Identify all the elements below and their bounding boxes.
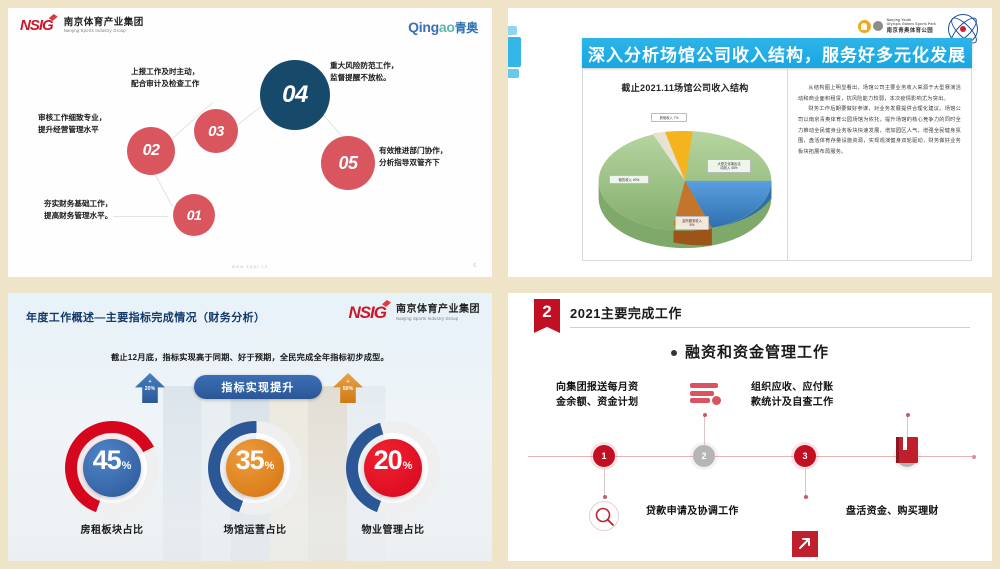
book-icon: [896, 437, 918, 463]
connector-01-label: [113, 216, 168, 217]
qingao-logo-part2: ao: [439, 19, 455, 35]
qingao-logo: Qingao青奥: [408, 19, 478, 36]
qingao-logo-part3: 青奥: [455, 21, 478, 35]
slide4-title: 2021主要完成工作: [570, 303, 682, 322]
arrow-right-value: + 50%: [333, 379, 363, 392]
kpi-pill: 指标实现提升: [194, 375, 322, 399]
pie-chart-panel: 截止2021.11场馆公司收入结构: [583, 69, 788, 260]
nsig-mark-icon: NSIG: [348, 303, 386, 323]
timeline-node-2[interactable]: 2: [693, 445, 715, 467]
donut-chart-1: 35% 场馆运营占比: [208, 421, 302, 515]
park-logo: Nanjing Youth Olympic Games Sports Park …: [858, 18, 936, 34]
node-03-text: 上报工作及时主动， 配合审计及检查工作: [131, 66, 199, 90]
pie-slice-label-3: 其他收入 7%: [651, 113, 687, 122]
timeline-stem-3: [805, 469, 806, 497]
node-01-text: 夯实财务基础工作， 提高财务管理水平。: [44, 198, 112, 222]
node-04[interactable]: 04: [260, 60, 330, 130]
arrow-up-right: + 50%: [333, 373, 363, 403]
donut-core-1: 35%: [226, 439, 284, 497]
pie-chart: 大型文化演出活 动收入 45% 租赁收入 40% 会所服务收入 8% 其他收入 …: [589, 103, 781, 253]
donut-unit-2: %: [403, 460, 413, 472]
decor-tabs: [508, 26, 522, 80]
nsig-logo-en: Nanjing Sports Industry Group: [396, 316, 480, 321]
nsig-mark-icon: NSIG: [20, 17, 53, 34]
slide-timeline: 2 2021主要完成工作 融资和资金管理工作 1 向集团报送每月资 金余额、资金…: [508, 293, 992, 561]
bullet-dot-icon: [671, 350, 677, 356]
node-05-text: 有效推进部门协作， 分析指导双管齐下: [379, 145, 447, 169]
analysis-paragraph-2: 财务工作后期要做好参谋，对业务发展提供合理化建议。场馆公司以南京青奥体育公园场馆…: [798, 104, 961, 157]
node-01-number: 01: [187, 207, 202, 223]
slide1-page-number: 6: [473, 263, 476, 269]
timeline-stem-1: [604, 469, 605, 497]
slide3-heading: 年度工作概述—主要指标完成情况（财务分析）: [26, 309, 265, 325]
donut-caption-2: 物业管理占比: [324, 521, 462, 536]
timeline-node-1-number: 1: [601, 451, 606, 461]
donut-chart-2: 20% 物业管理占比: [346, 421, 440, 515]
slide2-body: 截止2021.11场馆公司收入结构: [582, 68, 972, 261]
donut-value-2: 20: [374, 439, 402, 482]
nsig-logo-cn: 南京体育产业集团: [396, 305, 480, 316]
slide-five-node-diagram: NSIG 南京体育产业集团 Nanjing Sports Industry Gr…: [8, 8, 492, 277]
timeline-label-2: 贷款申请及协调工作: [646, 505, 739, 520]
park-logo-icon: [858, 20, 883, 33]
node-05-number: 05: [338, 153, 357, 174]
slide2-title: 深入分析场馆公司收入结构，服务好多元化发展: [582, 38, 972, 68]
node-02-text: 审核工作细致专业， 提升经营管理水平: [38, 112, 106, 136]
donut-unit-1: %: [265, 460, 275, 472]
timeline-label-3: 组织应收、应付账 款统计及自查工作: [751, 381, 833, 410]
section-number-badge: 2: [534, 299, 560, 333]
timeline-node-3-number: 3: [802, 451, 807, 461]
slide4-subtitle-text: 融资和资金管理工作: [685, 344, 829, 361]
analysis-text-panel: 从结构图上明显看出，场馆公司主要业务收入来源于大型赛演活动和商业面积租赁，抗风险…: [788, 69, 971, 260]
park-logo-cn: 南京青奥体育公园: [887, 26, 936, 34]
slide1-watermark: www.1ppt.cn: [8, 264, 492, 269]
slide-kpi-donuts: 年度工作概述—主要指标完成情况（财务分析） NSIG 南京体育产业集团 Nanj…: [8, 293, 492, 561]
donut-core-0: 45%: [83, 439, 141, 497]
node-04-number: 04: [282, 81, 308, 109]
donut-value-1: 35: [236, 439, 264, 482]
arrow-up-left: + 20%: [135, 373, 165, 403]
node-03[interactable]: 03: [194, 109, 238, 153]
timeline-node-2-number: 2: [701, 451, 706, 461]
nsig-logo-en: Nanjing Sports Industry Group: [64, 28, 144, 33]
flag-arrow-icon: [792, 531, 818, 557]
slide4-subtitle: 融资和资金管理工作: [508, 341, 992, 362]
pie-slice-label-0: 大型文化演出活 动收入 45%: [707, 159, 751, 173]
node-03-number: 03: [208, 123, 224, 140]
qingao-logo-part1: Qing: [408, 19, 439, 35]
search-icon: [589, 501, 619, 531]
donut-chart-0: 45% 房租板块占比: [65, 421, 159, 515]
donut-unit-0: %: [122, 460, 132, 472]
nsig-logo: NSIG 南京体育产业集团 Nanjing Sports Industry Gr…: [348, 303, 480, 323]
slide-cell-4: 2 2021主要完成工作 融资和资金管理工作 1 向集团报送每月资 金余额、资金…: [500, 285, 1000, 569]
donut-core-2: 20%: [364, 439, 422, 497]
node-04-text: 重大风险防范工作， 监督提醒不放松。: [330, 60, 398, 84]
slide3-subheading: 截止12月底，指标实现高于同期、好于预期，全民完成全年指标初步成型。: [8, 351, 492, 363]
analysis-paragraph-1: 从结构图上明显看出，场馆公司主要业务收入来源于大型赛演活动和商业面积租赁，抗风险…: [798, 83, 961, 104]
node-02-number: 02: [143, 142, 160, 160]
arrow-left-value: + 20%: [135, 379, 165, 392]
title-divider: [570, 327, 970, 328]
timeline-label-4: 盘活资金、购买理财: [846, 505, 939, 520]
slide-cell-1: NSIG 南京体育产业集团 Nanjing Sports Industry Gr…: [0, 0, 500, 285]
pie-slice-label-2: 会所服务收入 8%: [675, 216, 709, 230]
slide-grid: NSIG 南京体育产业集团 Nanjing Sports Industry Gr…: [0, 0, 1000, 569]
nsig-logo: NSIG 南京体育产业集团 Nanjing Sports Industry Gr…: [20, 17, 144, 34]
node-05[interactable]: 05: [321, 136, 375, 190]
slide-cell-2: Nanjing Youth Olympic Games Sports Park …: [500, 0, 1000, 285]
timeline-node-3[interactable]: 3: [794, 445, 816, 467]
pie-slice-label-1: 租赁收入 40%: [609, 175, 649, 184]
server-check-icon: [690, 383, 718, 406]
nsig-logo-cn: 南京体育产业集团: [64, 18, 144, 28]
donut-value-0: 45: [93, 439, 121, 482]
timeline-label-1: 向集团报送每月资 金余额、资金计划: [556, 381, 638, 410]
timeline-node-1[interactable]: 1: [593, 445, 615, 467]
donut-caption-1: 场馆运营占比: [186, 521, 324, 536]
node-01[interactable]: 01: [173, 194, 215, 236]
slide-revenue-structure: Nanjing Youth Olympic Games Sports Park …: [508, 8, 992, 277]
slide-cell-3: 年度工作概述—主要指标完成情况（财务分析） NSIG 南京体育产业集团 Nanj…: [0, 285, 500, 569]
pie-chart-title: 截止2021.11场馆公司收入结构: [583, 81, 787, 94]
node-02[interactable]: 02: [127, 127, 175, 175]
timeline-stem-2: [704, 415, 705, 445]
donut-caption-0: 房租板块占比: [43, 521, 181, 536]
